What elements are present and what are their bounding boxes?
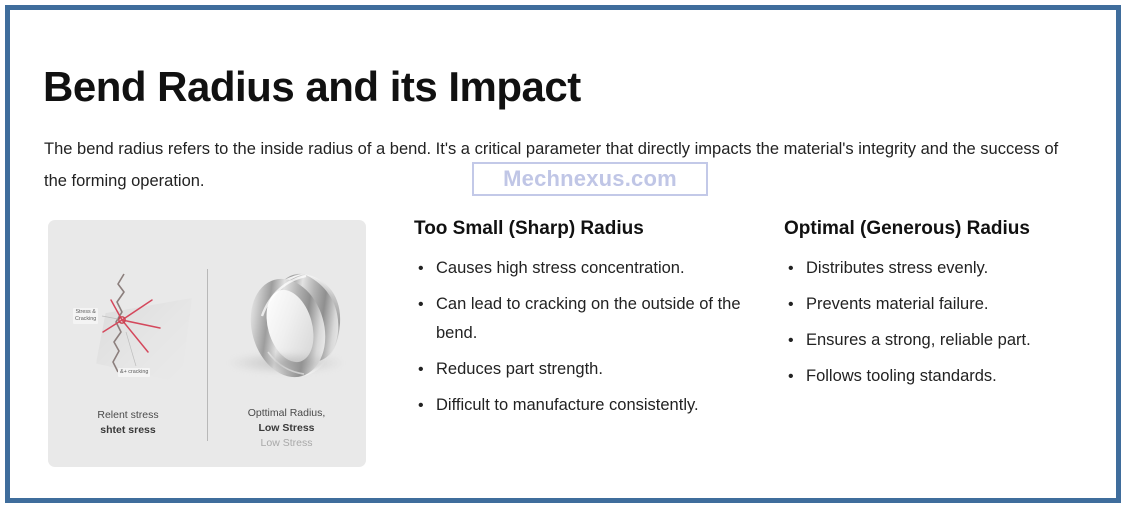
illustration-caption-left: Relent stress shtet sress (54, 408, 202, 438)
crack-label-stress: Stress & Cracking (73, 308, 98, 324)
column-2-list: Distributes stress evenly. Prevents mate… (784, 254, 1094, 391)
list-item: Distributes stress evenly. (806, 254, 1094, 283)
list-item: Difficult to manufacture consistently. (436, 391, 754, 420)
list-item: Follows tooling standards. (806, 362, 1094, 391)
illustration-divider (207, 269, 208, 441)
column-2-heading: Optimal (Generous) Radius (784, 218, 1094, 240)
illustration-caption-right: Opttimal Radius, Low Stress Low Stress (214, 406, 359, 451)
page-content: Bend Radius and its Impact The bend radi… (10, 10, 1116, 498)
column-1-heading: Too Small (Sharp) Radius (414, 218, 754, 240)
list-item: Reduces part strength. (436, 355, 754, 384)
page-frame: Bend Radius and its Impact The bend radi… (5, 5, 1121, 503)
watermark-text: Mechnexus.com (503, 166, 677, 192)
column-1-list: Causes high stress concentration. Can le… (414, 254, 754, 420)
crack-label-cracking: &+ cracking (118, 368, 150, 377)
page-root: Bend Radius and its Impact The bend radi… (0, 0, 1126, 508)
list-item: Prevents material failure. (806, 290, 1094, 319)
caption-left-line1: Relent stress (54, 408, 202, 423)
caption-right-line1: Opttimal Radius, (214, 406, 359, 421)
ring-illustration (218, 260, 358, 400)
list-item: Ensures a strong, reliable part. (806, 326, 1094, 355)
metal-ring-icon (218, 260, 358, 400)
column-too-small-radius: Too Small (Sharp) Radius Causes high str… (414, 218, 754, 427)
illustration-panel: Stress & Cracking &+ cracking Relent str… (48, 220, 366, 467)
list-item: Causes high stress concentration. (436, 254, 754, 283)
column-optimal-radius: Optimal (Generous) Radius Distributes st… (784, 218, 1094, 398)
caption-right-line2: Low Stress (214, 421, 359, 436)
page-title: Bend Radius and its Impact (43, 63, 581, 111)
caption-left-line2: shtet sress (54, 423, 202, 438)
caption-right-line3: Low Stress (214, 436, 359, 451)
list-item: Can lead to cracking on the outside of t… (436, 290, 754, 348)
crack-lines-icon (56, 250, 204, 400)
ring-shadow (230, 352, 342, 374)
watermark-badge: Mechnexus.com (472, 162, 708, 196)
crack-illustration: Stress & Cracking &+ cracking (56, 250, 204, 400)
